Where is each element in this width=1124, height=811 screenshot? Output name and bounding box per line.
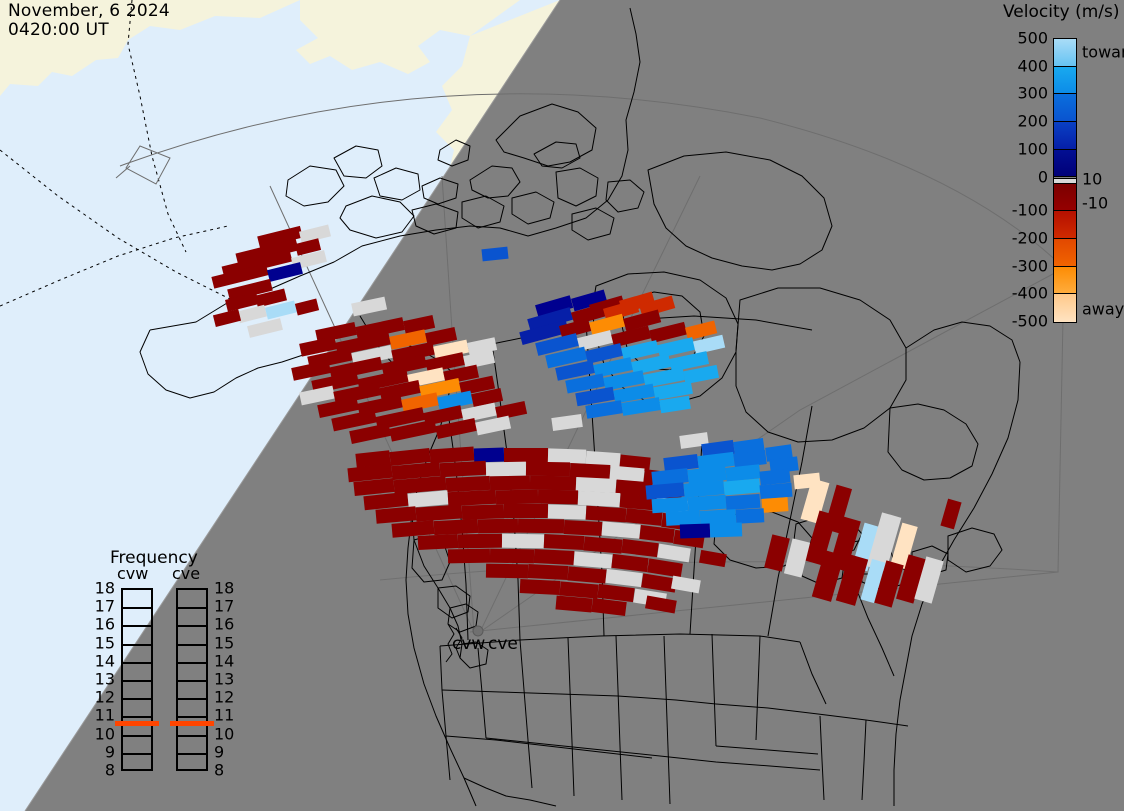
- colorbar-label-positive-threshold: 10: [1082, 169, 1102, 188]
- colorbar-segment: [1054, 94, 1076, 122]
- colorbar-tick: 500: [1017, 29, 1048, 48]
- colorbar-tick: -100: [1012, 201, 1048, 220]
- colorbar-side-labels: toward10-10away: [1082, 38, 1124, 323]
- colorbar-tick: -300: [1012, 256, 1048, 275]
- colorbar-segment: [1054, 39, 1076, 67]
- frequency-title: Frequency: [110, 548, 198, 568]
- map-canvas: [0, 0, 1124, 811]
- site-label-cve: cve: [488, 634, 518, 654]
- colorbar-segment: [1054, 294, 1076, 322]
- colorbar-segment: [1054, 211, 1076, 239]
- velocity-colorbar: [1053, 38, 1077, 323]
- colorbar-tick-labels: 5004003002001000-100-200-300-400-500: [990, 38, 1048, 323]
- colorbar-segment: [1054, 184, 1076, 212]
- timestamp-label: November, 6 20240420:00 UT: [8, 2, 170, 40]
- colorbar-tick: 100: [1017, 139, 1048, 158]
- colorbar-tick: 0: [1038, 167, 1048, 186]
- colorbar-segment: [1054, 150, 1076, 178]
- colorbar-tick: -200: [1012, 228, 1048, 247]
- colorbar-tick: 200: [1017, 112, 1048, 131]
- colorbar-label-away: away: [1082, 300, 1124, 319]
- colorbar-segment: [1054, 67, 1076, 95]
- colorbar-segment: [1054, 122, 1076, 150]
- colorbar-tick: 300: [1017, 84, 1048, 103]
- timestamp-time: 0420:00 UT: [8, 20, 109, 40]
- colorbar-tick: -500: [1012, 312, 1048, 331]
- colorbar-label-toward: toward: [1082, 43, 1124, 62]
- colorbar-segment: [1054, 267, 1076, 295]
- colorbar-tick: -400: [1012, 284, 1048, 303]
- radar-map-screen: November, 6 20240420:00 UT cvw cve Veloc…: [0, 0, 1124, 811]
- colorbar-label-negative-threshold: -10: [1082, 193, 1108, 212]
- site-label-cvw: cvw: [452, 634, 485, 654]
- colorbar-tick: 400: [1017, 56, 1048, 75]
- colorbar-title: Velocity (m/s): [1003, 2, 1120, 22]
- timestamp-date: November, 6 2024: [8, 1, 170, 21]
- colorbar-segment: [1054, 239, 1076, 267]
